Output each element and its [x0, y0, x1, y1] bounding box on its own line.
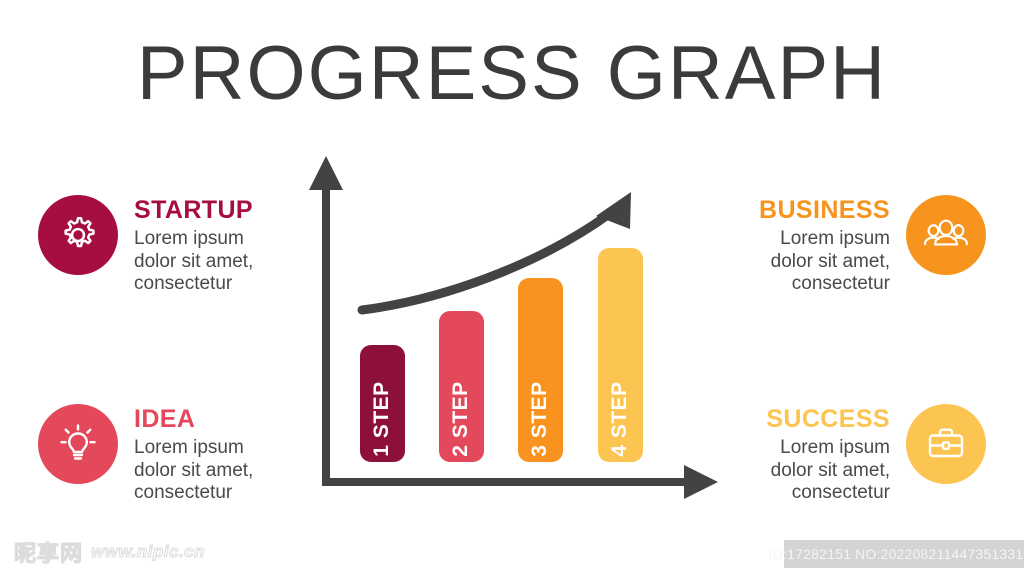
bar-4[interactable] [598, 248, 643, 462]
business-heading: BUSINESS [759, 197, 890, 223]
gear-icon [55, 212, 101, 258]
info-block-business[interactable]: BUSINESS Lorem ipsum dolor sit amet, con… [759, 195, 986, 295]
info-block-idea[interactable]: IDEA Lorem ipsum dolor sit amet, consect… [38, 404, 253, 504]
business-text: BUSINESS Lorem ipsum dolor sit amet, con… [759, 195, 890, 295]
idea-heading: IDEA [134, 406, 253, 432]
people-group-icon [921, 210, 971, 260]
briefcase-icon-badge [906, 404, 986, 484]
lightbulb-icon [54, 420, 102, 468]
watermark-logo: 昵享网 www.nipic.cn [14, 536, 205, 568]
progress-bar-chart: 1 STEP 2 STEP 3 STEP 4 STEP [300, 150, 740, 510]
x-axis [322, 465, 718, 499]
briefcase-icon [922, 420, 970, 468]
bar-2[interactable] [439, 311, 484, 462]
growth-trend-arrow-icon [362, 192, 631, 310]
watermark-mark: 昵享网 [14, 536, 83, 568]
gear-icon-badge [38, 195, 118, 275]
business-body: Lorem ipsum dolor sit amet, consectetur [759, 228, 890, 295]
success-body: Lorem ipsum dolor sit amet, consectetur [766, 437, 890, 504]
bar-3[interactable] [518, 278, 563, 462]
idea-body: Lorem ipsum dolor sit amet, consectetur [134, 437, 253, 504]
idea-text: IDEA Lorem ipsum dolor sit amet, consect… [134, 404, 253, 504]
y-axis-arrow-icon [309, 156, 343, 190]
startup-body: Lorem ipsum dolor sit amet, consectetur [134, 228, 253, 295]
startup-text: STARTUP Lorem ipsum dolor sit amet, cons… [134, 195, 253, 295]
lightbulb-icon-badge [38, 404, 118, 484]
image-id-bar: ID:17282151 NO:20220821144735133127 [784, 540, 1024, 568]
success-text: SUCCESS Lorem ipsum dolor sit amet, cons… [766, 404, 890, 504]
y-axis [309, 156, 343, 486]
image-id-text: ID:17282151 NO:20220821144735133127 [769, 546, 1024, 562]
info-block-startup[interactable]: STARTUP Lorem ipsum dolor sit amet, cons… [38, 195, 253, 295]
watermark-url: www.nipic.cn [91, 542, 205, 562]
people-group-icon-badge [906, 195, 986, 275]
x-axis-arrow-icon [684, 465, 718, 499]
success-heading: SUCCESS [766, 406, 890, 432]
bar-1[interactable] [360, 345, 405, 462]
page-title: PROGRESS GRAPH [0, 34, 1024, 114]
info-block-success[interactable]: SUCCESS Lorem ipsum dolor sit amet, cons… [766, 404, 986, 504]
infographic-canvas: PROGRESS GRAPH STARTUP Lorem ipsum dolor… [0, 0, 1024, 576]
startup-heading: STARTUP [134, 197, 253, 223]
